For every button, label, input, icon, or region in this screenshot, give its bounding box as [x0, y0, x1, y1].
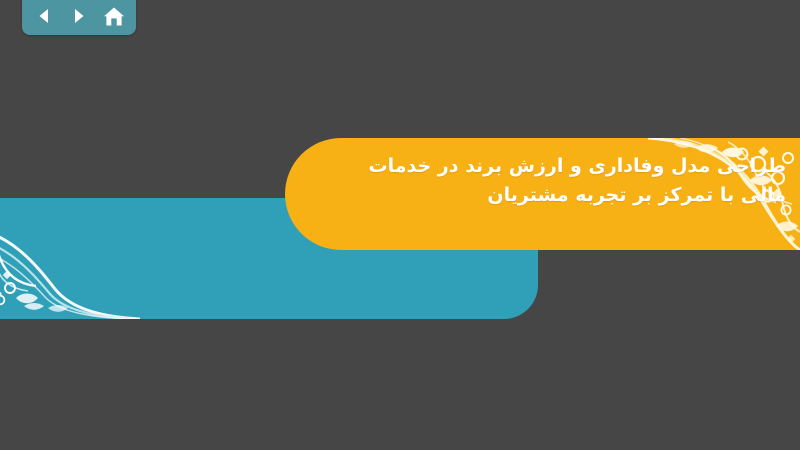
orange-title-band: طراحی مدل وفاداری و ارزش برند در خدمات م…: [285, 138, 800, 250]
previous-button[interactable]: [31, 3, 57, 29]
slide-navigation-bar: [22, 0, 136, 35]
home-icon: [103, 6, 125, 27]
slide-title-line-2: مالی با تمرکز بر تجربه مشتریان: [316, 181, 786, 210]
next-icon: [69, 6, 89, 26]
slide-canvas: طراحی مدل وفاداری و ارزش برند در خدمات م…: [0, 0, 800, 450]
teal-arabesque-ornament: [0, 198, 140, 319]
slide-title-line-1: طراحی مدل وفاداری و ارزش برند در خدمات: [316, 152, 786, 181]
slide-title: طراحی مدل وفاداری و ارزش برند در خدمات م…: [316, 152, 786, 211]
home-button[interactable]: [101, 3, 127, 29]
previous-icon: [34, 6, 54, 26]
next-button[interactable]: [66, 3, 92, 29]
